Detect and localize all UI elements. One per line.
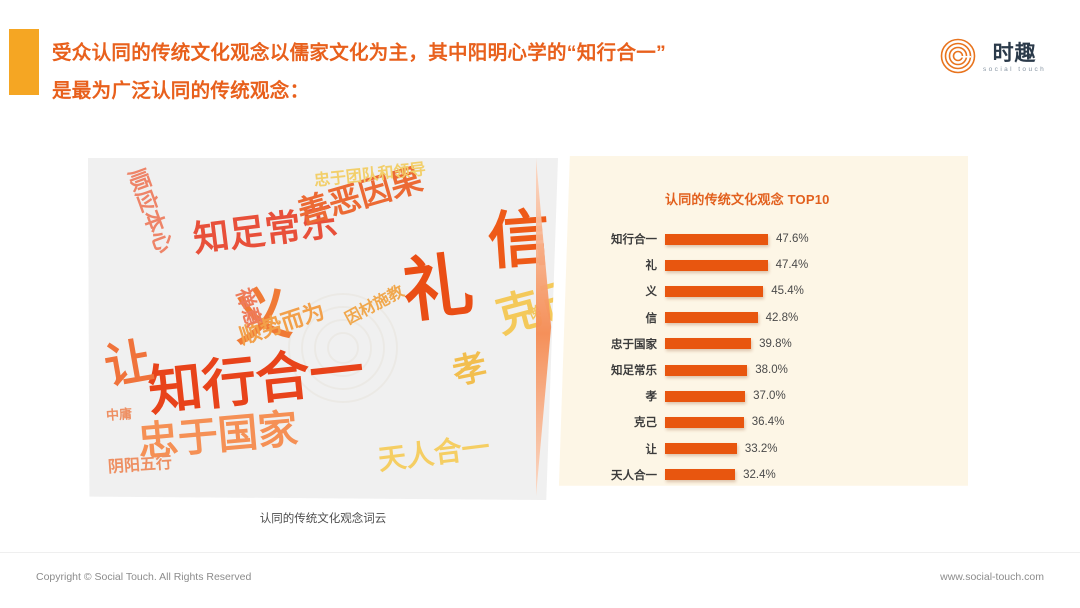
wordcloud-term: 礼 (399, 249, 477, 327)
chart-row-bar (665, 338, 751, 349)
chart-row-bar (665, 234, 768, 245)
chart-row-value: 38.0% (747, 364, 788, 376)
chart-row-value: 33.2% (737, 443, 778, 455)
chart-row-value: 36.4% (744, 416, 785, 428)
chart-row-bar (665, 312, 758, 323)
page-title: 受众认同的传统文化观念以儒家文化为主，其中阳明心学的“知行合一” 是最为广泛认同… (52, 34, 922, 110)
page-title-line-1: 受众认同的传统文化观念以儒家文化为主，其中阳明心学的“知行合一” (52, 34, 922, 72)
chart-row-label: 信 (548, 310, 665, 326)
chart-row-bar (665, 443, 737, 454)
chart-row: 义45.4% (548, 278, 968, 304)
chart-row-label: 天人合一 (548, 467, 665, 483)
chart-row: 克己36.4% (548, 409, 968, 435)
chart-row-label: 礼 (548, 257, 665, 273)
chart-row-bar (665, 286, 763, 297)
chart-row-value: 45.4% (763, 285, 804, 297)
chart-row-value: 42.8% (758, 312, 799, 324)
chart-row: 天人合一32.4% (548, 462, 968, 488)
header-accent-bar (9, 29, 39, 95)
chart-row-value: 37.0% (745, 390, 786, 402)
chart-row-label: 克己 (548, 414, 665, 430)
chart-row-label: 让 (548, 441, 665, 457)
chart-row-bar (665, 365, 747, 376)
chart-row-value: 47.4% (768, 259, 809, 271)
chart-row: 孝37.0% (548, 383, 968, 409)
wordcloud-term: 顺应本心 (125, 166, 176, 256)
wordcloud-panel: 知行合一礼信义知足常乐忠于国家善恶因果让克己天人合一孝顺势而为顺应本心禅意忠于团… (88, 158, 558, 500)
page-title-line-2: 是最为广泛认同的传统观念： (52, 72, 922, 110)
chart-row-value: 39.8% (751, 338, 792, 350)
wordcloud-term: 天人合一 (377, 433, 492, 474)
logo-tagline: social touch (983, 67, 1046, 74)
wordcloud-term: 让 (101, 337, 157, 393)
footer-divider (0, 552, 1080, 553)
chart-row: 让33.2% (548, 436, 968, 462)
content-area: 知行合一礼信义知足常乐忠于国家善恶因果让克己天人合一孝顺势而为顺应本心禅意忠于团… (0, 150, 1080, 520)
chart-panel: 认同的传统文化观念 TOP10 知行合一47.6%礼47.4%义45.4%信42… (548, 156, 968, 496)
concentric-circles-icon (940, 38, 976, 79)
logo-wordmark: 时趣 (993, 43, 1037, 64)
chart-row-label: 忠于国家 (548, 336, 665, 352)
chart-row: 知足常乐38.0% (548, 357, 968, 383)
chart-row-label: 义 (548, 283, 665, 299)
footer-copyright: Copyright © Social Touch. All Rights Res… (36, 571, 251, 583)
wordcloud-term: 中庸 (106, 407, 133, 422)
chart-row-label: 知行合一 (548, 231, 665, 247)
brand-logo: 时趣 social touch (940, 33, 1058, 83)
footer-website[interactable]: www.social-touch.com (940, 571, 1044, 583)
chart-row-label: 知足常乐 (548, 362, 665, 378)
chart-row-bar (665, 260, 768, 271)
wordcloud-caption: 认同的传统文化观念词云 (88, 510, 558, 526)
chart-row-bar (665, 391, 745, 402)
chart-row: 礼47.4% (548, 252, 968, 278)
chart-rows: 知行合一47.6%礼47.4%义45.4%信42.8%忠于国家39.8%知足常乐… (548, 226, 968, 488)
chart-row-label: 孝 (548, 388, 665, 404)
chart-row-bar (665, 469, 735, 480)
wordcloud-term: 孝 (450, 350, 490, 390)
chart-row: 信42.8% (548, 305, 968, 331)
chart-row-bar (665, 417, 744, 428)
wordcloud-term: 阴阳五行 (108, 456, 173, 476)
logo-text-block: 时趣 social touch (983, 43, 1046, 74)
chart-row-value: 32.4% (735, 469, 776, 481)
chart-row-value: 47.6% (768, 233, 809, 245)
chart-row: 忠于国家39.8% (548, 331, 968, 357)
chart-title: 认同的传统文化观念 TOP10 (665, 189, 830, 208)
chart-row: 知行合一47.6% (548, 226, 968, 252)
